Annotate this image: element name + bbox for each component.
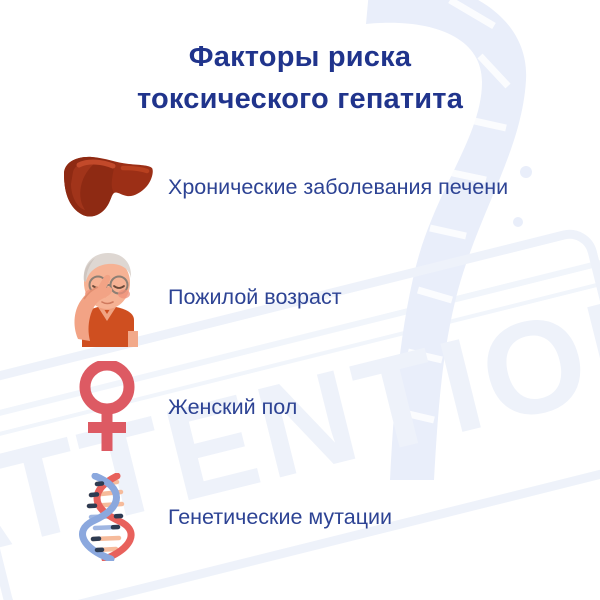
- list-item: Генетические мутации: [0, 462, 600, 572]
- list-item-label: Генетические мутации: [168, 504, 392, 531]
- risk-factor-list: Хронические заболевания печени: [0, 132, 600, 572]
- page-title-line-2: токсического гепатита: [0, 78, 600, 120]
- female-symbol-icon: [52, 357, 162, 457]
- list-item: Пожилой возраст: [0, 242, 600, 352]
- content-layer: Факторы риска токсического гепатита Хрон…: [0, 0, 600, 600]
- list-item: Женский пол: [0, 352, 600, 462]
- list-item-label: Пожилой возраст: [168, 284, 342, 311]
- page-title: Факторы риска токсического гепатита: [0, 36, 600, 120]
- page-title-line-1: Факторы риска: [0, 36, 600, 78]
- liver-icon: [52, 137, 162, 237]
- elderly-person-icon: [52, 247, 162, 347]
- list-item-label: Хронические заболевания печени: [168, 174, 508, 201]
- dna-helix-icon: [52, 467, 162, 567]
- infographic-root: ATTENTION Факторы риска токсического геп…: [0, 0, 600, 600]
- list-item: Хронические заболевания печени: [0, 132, 600, 242]
- list-item-label: Женский пол: [168, 394, 297, 421]
